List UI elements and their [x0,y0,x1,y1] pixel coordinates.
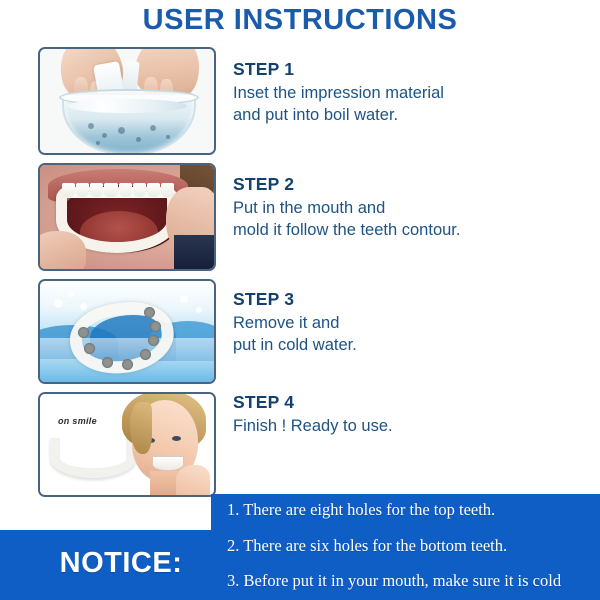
step-3-body: Remove it and put in cold water. [233,313,357,357]
step-4-body: Finish ! Ready to use. [233,416,393,438]
water-droplet [196,307,202,313]
veneer-hole [84,343,95,354]
tooth [62,183,75,197]
step-4-title: STEP 4 [233,393,393,412]
tooth [90,183,103,197]
bubble [88,123,94,129]
notice-label: NOTICE: [36,547,206,580]
veneer-hole [150,321,161,332]
step-4: STEP 4 Finish ! Ready to use. [233,393,393,438]
water-droplet [180,295,188,303]
step-1-image [38,47,216,155]
bubble [102,133,107,138]
dental-veneer-arc [50,438,136,478]
shirt [174,235,214,269]
step-4-image: on smile [38,392,216,497]
step-2-body: Put in the mouth and mold it follow the … [233,198,460,242]
bubble [118,127,125,134]
image-smiling-woman-with-veneer: on smile [40,394,214,495]
step-3-image [38,279,216,384]
hair-strand [130,402,152,454]
step-2-title: STEP 2 [233,175,460,194]
notice-item: 1. There are eight holes for the top tee… [227,500,595,521]
bubble [136,137,141,142]
step-3: STEP 3 Remove it and put in cold water. [233,290,357,357]
page-title: USER INSTRUCTIONS [0,4,600,37]
notice-item: 2. There are six holes for the bottom te… [227,536,595,557]
tooth [147,183,160,197]
bubble [166,135,170,139]
image-veneer-in-cold-water [40,281,214,382]
tooth [161,183,174,197]
water-surface [67,99,187,113]
tooth [133,183,146,197]
notice-list: 1. There are eight holes for the top tee… [227,500,595,600]
hand-on-chin [176,465,210,495]
step-2: STEP 2 Put in the mouth and mold it foll… [233,175,460,242]
tooth [119,183,132,197]
instruction-infographic: USER INSTRUCTIONS [0,0,600,600]
water-droplet [80,303,87,310]
veneer-hole [122,359,133,370]
tooth [104,183,117,197]
step-1: STEP 1 Inset the impression material and… [233,60,444,127]
notice-item: 3. Before put it in your mouth, make sur… [227,571,595,592]
water-droplet [68,291,74,297]
image-veneer-in-mouth [40,165,214,269]
veneer-hole [144,307,155,318]
step-2-image [38,163,216,271]
fingers-left [40,231,86,269]
step-1-body: Inset the impression material and put in… [233,83,444,127]
on-smile-caption: on smile [58,416,97,426]
smile-teeth [152,456,184,471]
tooth [76,183,89,197]
eye-right [172,436,181,441]
step-3-title: STEP 3 [233,290,357,309]
water-droplet [54,299,63,308]
teeth-row [62,183,174,197]
image-hands-bowl-boiling-water [40,49,214,153]
bubble [96,141,100,145]
bubble [150,125,156,131]
veneer-hole [78,327,89,338]
veneer-hole [148,335,159,346]
veneer-hole [102,357,113,368]
veneer-hole [140,349,151,360]
step-1-title: STEP 1 [233,60,444,79]
